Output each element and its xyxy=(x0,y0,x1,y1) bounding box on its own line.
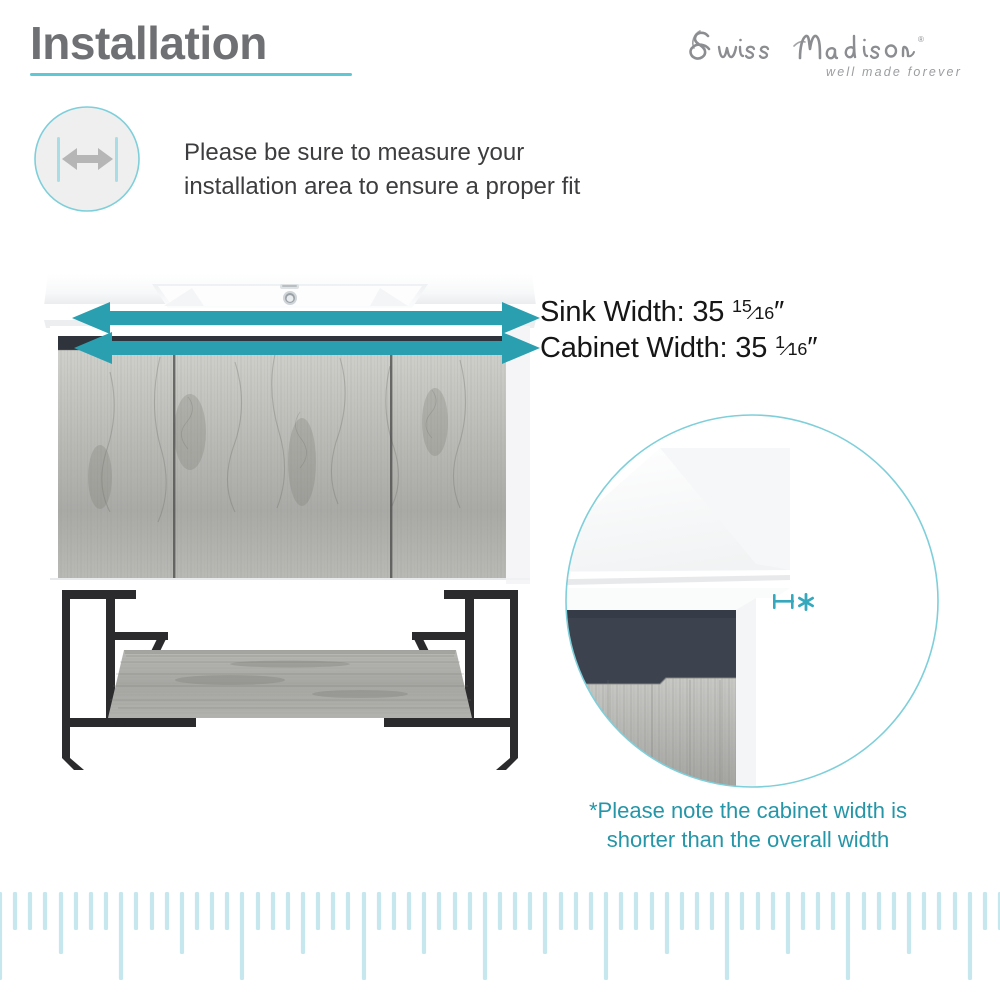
ruler-tick xyxy=(331,892,335,930)
dimension-labels: Sink Width: 35 15⁄16″ Cabinet Width: 35 … xyxy=(540,296,817,368)
ruler-tick xyxy=(286,892,290,930)
ruler-tick xyxy=(801,892,805,930)
ruler-tick xyxy=(377,892,381,930)
ruler-tick xyxy=(604,892,608,980)
ruler-tick xyxy=(559,892,563,930)
cabinet-width-text: Cabinet Width: xyxy=(540,332,727,364)
ruler-tick xyxy=(271,892,275,930)
sink-width-label: Sink Width: 35 15⁄16″ xyxy=(540,296,817,332)
ruler-tick xyxy=(665,892,669,954)
ruler-tick xyxy=(968,892,972,980)
ruler-tick xyxy=(513,892,517,930)
ruler-tick xyxy=(59,892,63,954)
ruler-tick xyxy=(240,892,244,980)
ruler-tick xyxy=(710,892,714,930)
ruler-tick xyxy=(983,892,987,930)
ruler-tick xyxy=(89,892,93,930)
sink-num: 15 xyxy=(732,296,752,316)
svg-text:well made forever: well made forever xyxy=(826,65,962,79)
ruler-tick xyxy=(134,892,138,930)
ruler-tick xyxy=(104,892,108,930)
sink-width-fraction: 15⁄16 xyxy=(732,297,774,330)
ruler-tick xyxy=(43,892,47,930)
ruler-tick xyxy=(225,892,229,930)
ruler-tick xyxy=(74,892,78,930)
ruler-tick xyxy=(907,892,911,954)
ruler-tick xyxy=(937,892,941,930)
ruler-tick xyxy=(634,892,638,930)
ruler-tick xyxy=(543,892,547,954)
sink-unit: ″ xyxy=(774,296,784,328)
bottom-shelf xyxy=(108,650,472,772)
ruler-tick xyxy=(574,892,578,930)
ruler-tick xyxy=(589,892,593,930)
cab-num: 1 xyxy=(775,332,785,352)
ruler-decoration xyxy=(0,880,1000,1000)
measure-note-row: Please be sure to measure your installat… xyxy=(28,103,580,216)
ruler-tick xyxy=(619,892,623,930)
cabinet-width-label: Cabinet Width: 35 1⁄16″ xyxy=(540,332,817,368)
ruler-tick xyxy=(28,892,32,930)
ruler-tick xyxy=(150,892,154,930)
ruler-tick xyxy=(0,892,2,980)
ruler-tick xyxy=(922,892,926,930)
cab-den: 16 xyxy=(788,339,808,359)
ruler-tick xyxy=(483,892,487,980)
ruler-tick xyxy=(831,892,835,930)
ruler-tick xyxy=(362,892,366,980)
ruler-tick xyxy=(301,892,305,954)
ruler-tick xyxy=(407,892,411,930)
sink-width-text: Sink Width: xyxy=(540,296,684,328)
ruler-tick xyxy=(953,892,957,930)
ruler-tick xyxy=(786,892,790,954)
ruler-tick xyxy=(877,892,881,930)
ruler-tick xyxy=(165,892,169,930)
ruler-tick xyxy=(119,892,123,980)
ruler-tick xyxy=(422,892,426,954)
ruler-tick xyxy=(695,892,699,930)
brand-logo: ® well made forever xyxy=(678,22,978,88)
cabinet-width-fraction: 1⁄16 xyxy=(775,333,807,366)
ruler-tick xyxy=(468,892,472,930)
ruler-tick xyxy=(816,892,820,930)
installation-sheet: Installation xyxy=(0,0,1000,1000)
ruler-tick xyxy=(650,892,654,930)
ruler-tick xyxy=(892,892,896,930)
page-title: Installation xyxy=(30,20,352,66)
ruler-tick xyxy=(392,892,396,930)
measure-note-text: Please be sure to measure your installat… xyxy=(184,136,580,204)
ruler-tick xyxy=(680,892,684,930)
ruler-tick xyxy=(256,892,260,930)
ruler-tick xyxy=(195,892,199,930)
cabinet-width-whole: 35 xyxy=(735,332,767,364)
detail-zoom-content xyxy=(560,412,960,790)
ruler-tick xyxy=(437,892,441,930)
ruler-tick xyxy=(498,892,502,930)
cabinet-doors xyxy=(56,350,508,580)
svg-text:®: ® xyxy=(918,35,924,44)
ruler-tick xyxy=(210,892,214,930)
double-arrow-measure-icon xyxy=(28,103,146,216)
corner-detail-callout xyxy=(560,412,960,790)
cabinet-width-footnote: *Please note the cabinet width is shorte… xyxy=(548,796,948,854)
ruler-tick xyxy=(756,892,760,930)
vanity-product-image xyxy=(40,262,540,772)
ruler-tick xyxy=(346,892,350,930)
title-underline xyxy=(30,73,352,76)
ruler-tick xyxy=(180,892,184,954)
ruler-tick xyxy=(528,892,532,930)
ruler-tick xyxy=(316,892,320,930)
sink-width-whole: 35 xyxy=(692,296,724,328)
ruler-tick xyxy=(846,892,850,980)
ruler-tick xyxy=(740,892,744,930)
page-title-block: Installation xyxy=(30,20,352,76)
ruler-tick xyxy=(862,892,866,930)
cabinet-body xyxy=(50,326,530,596)
ruler-tick xyxy=(453,892,457,930)
ruler-tick xyxy=(771,892,775,930)
cabinet-unit: ″ xyxy=(807,332,817,364)
ruler-tick xyxy=(725,892,729,980)
ruler-tick xyxy=(13,892,17,930)
sink-den: 16 xyxy=(754,303,774,323)
